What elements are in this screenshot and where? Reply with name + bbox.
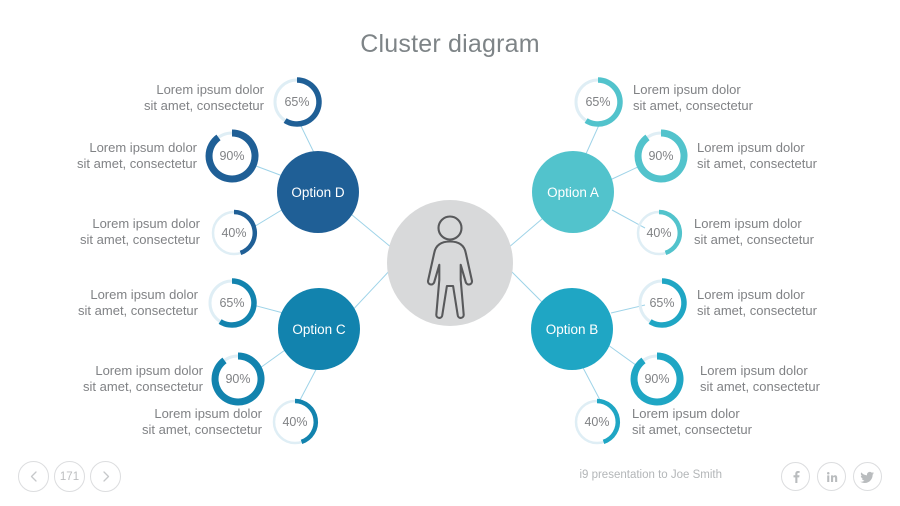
option-a-label: Option A xyxy=(547,185,599,200)
option-a-spoke-3[interactable]: 40% Lorem ipsum dolor sit amet, consecte… xyxy=(638,212,815,254)
option-d-spoke-1[interactable]: 65% Lorem ipsum dolor sit amet, consecte… xyxy=(144,80,319,124)
option-c-spoke-1-text-line1: Lorem ipsum dolor xyxy=(90,287,198,302)
connector-center-option-c xyxy=(348,268,392,315)
option-d-spoke-3[interactable]: 40% Lorem ipsum dolor sit amet, consecte… xyxy=(80,212,255,254)
cluster-option-c[interactable]: Option C 65% Lorem ipsum dolor sit amet,… xyxy=(78,281,360,443)
connector-option-a-spoke-2 xyxy=(610,166,640,180)
option-b-spoke-1-percent: 65% xyxy=(649,296,674,310)
option-c-spoke-2[interactable]: 90% Lorem ipsum dolor sit amet, consecte… xyxy=(83,356,261,402)
option-a-spoke-2-percent: 90% xyxy=(648,149,673,163)
option-c-spoke-2-text-line2: sit amet, consectetur xyxy=(83,379,204,394)
twitter-glyph xyxy=(860,470,875,484)
option-d-label: Option D xyxy=(291,185,345,200)
option-b-spoke-2[interactable]: 90% Lorem ipsum dolor sit amet, consecte… xyxy=(634,356,821,402)
option-b-spoke-1-text-line1: Lorem ipsum dolor xyxy=(697,287,805,302)
slide-navigation[interactable]: 171 xyxy=(18,461,121,492)
option-a-spoke-3-text-line1: Lorem ipsum dolor xyxy=(694,216,802,231)
option-a-spoke-3-percent: 40% xyxy=(646,226,671,240)
option-c-spoke-1-percent: 65% xyxy=(219,296,244,310)
option-a-spoke-1-percent: 65% xyxy=(585,95,610,109)
chevron-left-glyph xyxy=(30,471,38,482)
option-c-label: Option C xyxy=(292,322,346,337)
cluster-option-b[interactable]: Option B 65% Lorem ipsum dolor sit amet,… xyxy=(531,281,821,443)
center-node[interactable] xyxy=(387,200,513,326)
option-a-spoke-3-text-line2: sit amet, consectetur xyxy=(694,232,815,247)
option-b-spoke-3-percent: 40% xyxy=(584,415,609,429)
slide-canvas: Cluster diagram xyxy=(0,0,900,506)
option-c-spoke-1-text-line2: sit amet, consectetur xyxy=(78,303,199,318)
page-number: 171 xyxy=(54,461,85,492)
cluster-diagram: Option D 65% Lorem ipsum dolor sit amet,… xyxy=(0,0,900,506)
option-c-spoke-2-percent: 90% xyxy=(225,372,250,386)
option-a-spoke-2-text-line1: Lorem ipsum dolor xyxy=(697,140,805,155)
option-a-spoke-1-text-line2: sit amet, consectetur xyxy=(633,98,754,113)
option-b-spoke-1[interactable]: 65% Lorem ipsum dolor sit amet, consecte… xyxy=(640,281,818,325)
option-b-spoke-2-percent: 90% xyxy=(644,372,669,386)
option-b-spoke-2-text-line1: Lorem ipsum dolor xyxy=(700,363,808,378)
chevron-right-icon[interactable] xyxy=(90,461,121,492)
option-d-spoke-3-percent: 40% xyxy=(221,226,246,240)
option-d-spoke-2-percent: 90% xyxy=(219,149,244,163)
facebook-icon[interactable] xyxy=(781,462,810,491)
option-b-spoke-3-text-line1: Lorem ipsum dolor xyxy=(632,406,740,421)
chevron-left-icon[interactable] xyxy=(18,461,49,492)
option-c-spoke-3-text-line2: sit amet, consectetur xyxy=(142,422,263,437)
option-b-spoke-3-text-line2: sit amet, consectetur xyxy=(632,422,753,437)
option-b-spoke-2-text-line2: sit amet, consectetur xyxy=(700,379,821,394)
connector-option-d-spoke-3 xyxy=(252,208,285,228)
option-a-spoke-2-text-line2: sit amet, consectetur xyxy=(697,156,818,171)
option-c-spoke-3-percent: 40% xyxy=(282,415,307,429)
option-b-label: Option B xyxy=(546,322,599,337)
option-d-spoke-2-text-line2: sit amet, consectetur xyxy=(77,156,198,171)
linkedin-icon[interactable] xyxy=(817,462,846,491)
option-d-spoke-2[interactable]: 90% Lorem ipsum dolor sit amet, consecte… xyxy=(77,133,255,179)
option-a-spoke-1[interactable]: 65% Lorem ipsum dolor sit amet, consecte… xyxy=(576,80,754,124)
option-c-spoke-2-text-line1: Lorem ipsum dolor xyxy=(95,363,203,378)
option-d-spoke-2-text-line1: Lorem ipsum dolor xyxy=(89,140,197,155)
option-d-spoke-1-percent: 65% xyxy=(284,95,309,109)
option-c-spoke-3[interactable]: 40% Lorem ipsum dolor sit amet, consecte… xyxy=(142,401,316,443)
option-d-spoke-1-text-line1: Lorem ipsum dolor xyxy=(156,82,264,97)
social-links[interactable] xyxy=(781,462,882,491)
option-d-spoke-3-text-line1: Lorem ipsum dolor xyxy=(92,216,200,231)
facebook-glyph xyxy=(789,470,803,484)
footer-credit: i9 presentation to Joe Smith xyxy=(579,469,722,481)
option-a-spoke-1-text-line1: Lorem ipsum dolor xyxy=(633,82,741,97)
option-d-spoke-1-text-line2: sit amet, consectetur xyxy=(144,98,265,113)
option-b-spoke-3[interactable]: 40% Lorem ipsum dolor sit amet, consecte… xyxy=(576,401,753,443)
option-c-spoke-3-text-line1: Lorem ipsum dolor xyxy=(154,406,262,421)
option-b-spoke-1-text-line2: sit amet, consectetur xyxy=(697,303,818,318)
cluster-option-a[interactable]: Option A 65% Lorem ipsum dolor sit amet,… xyxy=(532,80,818,254)
cluster-option-d[interactable]: Option D 65% Lorem ipsum dolor sit amet,… xyxy=(77,80,359,254)
linkedin-glyph xyxy=(825,470,839,484)
center-circle xyxy=(387,200,513,326)
option-d-spoke-3-text-line2: sit amet, consectetur xyxy=(80,232,201,247)
chevron-right-glyph xyxy=(102,471,110,482)
option-a-spoke-2[interactable]: 90% Lorem ipsum dolor sit amet, consecte… xyxy=(638,133,818,179)
twitter-icon[interactable] xyxy=(853,462,882,491)
option-c-spoke-1[interactable]: 65% Lorem ipsum dolor sit amet, consecte… xyxy=(78,281,254,325)
